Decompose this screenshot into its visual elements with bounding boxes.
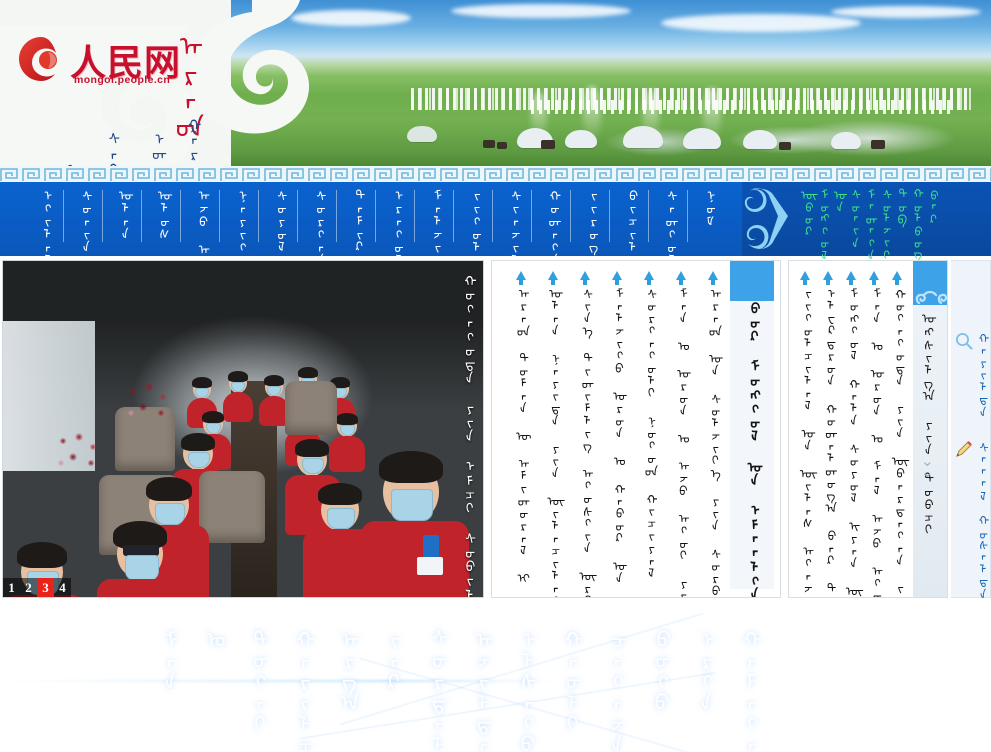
nav-item-label: ᠵᠢᠭᠤᠯᠴᠢᠯᠠᠯ (466, 188, 480, 256)
compose-label: ᠰᠠᠨᠠᠯ ᠬᠦᠰᠡᠯᠲᠡ (974, 441, 987, 599)
nav-item-label: ᠰᠡᠳᠬᠦᠯ (661, 188, 675, 256)
footer-link[interactable]: ᠬᠠᠤᠯᠢ (557, 628, 580, 733)
bullet-icon (846, 271, 856, 280)
news-item[interactable]: ᠰᠢᠨ᠎ᠡ ᠲᠢᠳᠢᠮᠯᠢᠭ ᠠᠭᠤᠰᠬᠢᠨ ᠦᠷᠪᠢᠰᠦᠯ ᠦᠨ ᠰᠡᠷᠭᠡᠶ… (570, 271, 599, 589)
pencil-icon (954, 439, 974, 459)
date-day-mn: ᠡᠳᠦᠷ (148, 131, 163, 166)
logo-domain: mongol.people.cn (74, 74, 170, 86)
footer-link[interactable]: ᠤ (200, 628, 223, 649)
nav-item[interactable]: ᠲᠠᠮᠢᠷ (336, 182, 375, 256)
nav-secondary-list: ᠥᠪᠥᠷ ᠮᠣᠩᠭᠣᠯ ᠤᠨ ᠰᠣᠨᠢᠨ ᠮᠡᠳᠡᠭᠡ ᠰᠦᠯᠵᠢᠶ᠎ᠡ ᠲᠥᠪ… (742, 182, 991, 256)
news-lead-item[interactable]: ᠥᠪᠥᠷ ᠮᠣᠩᠭᠣᠯ ᠤᠨ ᠡᠮᠨᠡᠯᠭᠡ ᠶᠢᠨ ᠬᠠᠪᠰᠤᠷᠤᠯᠭ᠎ᠠ ᠶ… (730, 271, 774, 589)
footer-link[interactable]: ᠬᠠᠮᠠᠭᠠᠯᠠᠭᠳᠠᠨ᠎ᠠ (736, 628, 759, 752)
news-list: ᠬᠥᠬᠡᠬᠣᠲᠠ ᠶᠢᠨ ᠥᠪᠡᠷᠲᠡᠭᠡᠨ ᠵᠠᠰᠠᠬᠤ ᠣᠷᠣᠨ ᠤ ᠲᠥᠪ… (789, 261, 913, 597)
nav-item-label: ᠨᠡᠶᠢᠭᠡᠮ (232, 188, 246, 256)
footer-link[interactable]: ᠠᠵᠢᠯᠲᠠᠨ (468, 628, 491, 752)
people-daily-logo-mark (18, 36, 64, 82)
news-item-title: ᠮᠠᠨ ᠤ ᠣᠷᠣᠨ ᠤ ᠮᠠᠯ ᠠᠵᠤ ᠠᠬᠤᠢ ᠶᠢᠨ ᠬᠥᠭᠵᠢᠯᠲᠡ… (867, 286, 881, 589)
date-month-mn: ᠰᠠᠷ᠎ᠠ (103, 131, 118, 166)
nav-item-label: ᠮᠠᠯᠵᠢᠬᠤ (427, 188, 441, 256)
nav-item[interactable]: ᠰᠤᠶᠤᠯ ᠤᠷᠠᠯᠢᠭ (258, 182, 297, 256)
page-root: 人民网 mongol.people.cn ᠠᠷᠠᠳ ᠤᠨ ᠰᠦᠯᠵᠢᠶ᠎ᠡ 20… (0, 0, 991, 752)
footer-link[interactable]: ᠮᠠᠨ (155, 628, 178, 691)
footer-link[interactable]: ᠪᠥᠬᠦ (646, 628, 669, 712)
bullet-icon (708, 271, 718, 280)
footer-link[interactable]: ᠰᠤᠷᠲᠠᠯᠴᠢᠯᠠᠭ᠎ᠠ (423, 628, 446, 752)
nav-item-label: ᠣᠯᠠᠨ ᠤᠯᠤᠰ (115, 188, 129, 256)
photo-carousel[interactable]: ᠬᠥᠬᠡᠬᠣᠲᠠ ᠶᠢᠨ ᠡᠮᠴᠢ ᠰᠤᠪᠢᠯᠠᠭᠴᠢᠳ ᠤᠨ ᠪᠠᠭ ᠡᠬᠡ … (2, 260, 484, 598)
bullet-icon (580, 271, 590, 280)
footer-link[interactable]: ᠬᠠᠷᠢᠯᠴᠠᠬᠤ (289, 628, 312, 752)
footer-link[interactable]: ᠵᠠᠷ (378, 628, 401, 691)
panel-header-bar (913, 261, 947, 305)
news-item[interactable]: ᠰᠤᠷᠭᠠᠭᠤᠯᠢ ᠨᠤᠭᠤᠳ ᠬᠢᠴᠢᠶᠡᠯ ᠢᠶᠡᠨ ᠰᠡᠷᠭᠦᠭᠡᠬᠦ ᠪ… (634, 271, 663, 589)
bullet-icon (516, 271, 526, 280)
nav-item-label: ᠰᠣᠨᠢᠨ ᠮᠡᠳᠡᠭᠡ (76, 188, 90, 256)
nav-sub-item[interactable]: ᠮᠣᠩᠭᠣᠯ (816, 188, 829, 260)
news-item-title: ᠮᠠᠯᠵᠢᠬᠤ ᠣᠷᠣᠨ ᠤ ᠬᠠᠪᠤᠷ ᠤᠨ ᠮᠠᠯ ᠲᠥᠯᠯᠡᠯᠲᠡ ᠶᠢᠨ… (609, 286, 623, 589)
medical-team-bus-photo (3, 261, 483, 597)
news-item-title: ᠬᠥᠬᠡᠬᠣᠲᠠ ᠶᠢᠨ ᠥᠪᠡᠷᠲᠡᠭᠡᠨ ᠵᠠᠰᠠᠬᠤ ᠣᠷᠣᠨ ᠤ ᠲᠥᠪ… (890, 286, 904, 589)
date-bar: 2020 ᠣᠨ 3 ᠰᠠᠷ᠎ᠠ 23 ᠡᠳᠦᠷ · ᠭᠠᠷᠠᠭ 1 (26, 116, 214, 166)
nav-item[interactable]: ᠵᠢᠷᠤᠭ (570, 182, 609, 256)
nav-item[interactable]: ᠮᠠᠯᠵᠢᠬᠤ (414, 182, 453, 256)
footer-links: ᠮᠠᠨ ᠤ ᠲᠤᠬᠠᠢ ᠬᠠᠷᠢᠯᠴᠠᠬᠤ ᠠᠷᠭ᠎ᠠ ᠵᠠᠷ ᠰᠤᠷᠲᠠᠯᠴᠢ… (155, 628, 758, 738)
news-item-title: ᠰᠢᠨ᠎ᠡ ᠲᠢᠳᠢᠮᠯᠢᠭ ᠠᠭᠤᠰᠬᠢᠨ ᠦᠷᠪᠢᠰᠦᠯ ᠦᠨ ᠰᠡᠷᠭᠡᠶ… (577, 286, 591, 589)
news-item-title: ᠠᠷᠠᠳ ᠲᠦᠮᠡᠨ ᠦ ᠠᠮᠢᠳᠤᠷᠠᠯ ᠢ ᠰᠠᠶᠢᠵᠢᠷᠠᠭᠤᠯᠬᠤ ᠶᠢ… (513, 286, 527, 589)
nav-item[interactable]: ᠰᠡᠳᠬᠦᠯ (648, 182, 687, 256)
nav-item[interactable]: ᠤᠯᠤᠰ ᠲᠥᠷᠦ (141, 182, 180, 256)
nav-item-label: ᠠᠵᠤ ᠠᠬᠤᠢ (193, 188, 207, 256)
site-header: 人民网 mongol.people.cn ᠠᠷᠠᠳ ᠤᠨ ᠰᠦᠯᠵᠢᠶ᠎ᠡ 20… (0, 0, 991, 166)
news-item-title: ᠰᠤᠷᠭᠠᠭᠤᠯᠢ ᠨᠤᠭᠤᠳ ᠬᠢᠴᠢᠶᠡᠯ ᠢᠶᠡᠨ ᠰᠡᠷᠭᠦᠭᠡᠬᠦ ᠪ… (641, 286, 655, 589)
bullet-icon (676, 271, 686, 280)
news-item[interactable]: ᠡᠯᠧᠺᠲ᠋ᠷᠣᠨ ᠬᠤᠳᠠᠯᠳᠤᠭ᠎ᠠ ᠪᠡᠷ ᠲᠠᠷᠢᠶᠠᠴᠢᠨ ᠮᠠᠯᠴᠢ… (818, 271, 838, 589)
site-logo[interactable]: 人民网 mongol.people.cn ᠠᠷᠠᠳ ᠤᠨ ᠰᠦᠯᠵᠢᠶ᠎ᠡ (18, 34, 268, 92)
date-weekday-mn: ᠭᠠᠷᠠᠭ (183, 116, 198, 166)
nav-sub-item[interactable]: ᠥᠪᠥᠷ (800, 188, 813, 236)
news-item-title: ᠠᠷᠠᠳ ᠤᠨ ᠰᠦᠯᠵᠢᠶ᠎ᠡ ᠶᠢᠨ ᠰᠤᠷᠪᠤᠯᠵᠢᠯᠠᠭᠴᠢ ᠶᠢᠨ ᠲ… (705, 286, 719, 589)
bullet-icon (644, 271, 654, 280)
nav-item-label: ᠬᠥᠳᠡᠭᠡ (544, 188, 558, 256)
carousel-dot[interactable]: 2 (20, 578, 37, 597)
nav-item-label: ᠡᠷᠡᠭᠦᠯ (388, 188, 402, 256)
bullet-icon (869, 271, 879, 280)
news-item[interactable]: ᠣᠯᠠᠨ ᠨᠡᠶᠢᠲᠡ ᠶᠢᠨ ᠦᠢᠯᠡᠴᠢᠯᠡᠭᠡᠨ ᠦ ᠴᠢᠨᠠᠷ ᠢ ᠲᠠ… (538, 271, 567, 589)
bullet-icon (823, 271, 833, 280)
nav-item[interactable]: ᠪᠢᠴᠢᠯᠭᠡ (609, 182, 648, 256)
footer-link[interactable]: ᠲᠤᠬᠠᠢ (244, 628, 267, 733)
nav-primary-list: ᠡᠬᠢᠯᠡᠯ ᠰᠣᠨᠢᠨ ᠮᠡᠳᠡᠭᠡ ᠣᠯᠠᠨ ᠤᠯᠤᠰ ᠤᠯᠤᠰ ᠲᠥᠷᠦ … (0, 182, 742, 256)
utility-rail: ᠬᠠᠶᠢᠯᠲᠠ ᠰᠠᠨᠠᠯ ᠬᠦᠰᠡᠯᠲᠡ (951, 260, 991, 598)
bullet-icon (548, 271, 558, 280)
news-item[interactable]: ᠮᠠᠯᠵᠢᠬᠤ ᠣᠷᠣᠨ ᠤ ᠬᠠᠪᠤᠷ ᠤᠨ ᠮᠠᠯ ᠲᠥᠯᠯᠡᠯᠲᠡ ᠶᠢᠨ… (602, 271, 631, 589)
carousel-dot-active[interactable]: 3 (37, 578, 54, 597)
news-item[interactable]: ᠮᠠᠨ ᠤ ᠣᠷᠣᠨ ᠤ ᠠᠵᠤ ᠠᠬᠤᠢ ᠶᠢᠨ ᠰᠡᠷᠭᠦᠯᠲᠡ ᠦᠷᠭᠦᠯ… (666, 271, 695, 589)
main-navigation: ᠡᠬᠢᠯᠡᠯ ᠰᠣᠨᠢᠨ ᠮᠡᠳᠡᠭᠡ ᠣᠯᠠᠨ ᠤᠯᠤᠰ ᠤᠯᠤᠰ ᠲᠥᠷᠦ … (0, 182, 991, 256)
search-button[interactable]: ᠬᠠᠶᠢᠯᠲᠠ (954, 331, 987, 417)
news-item[interactable]: ᠵᠢᠭᠤᠯᠴᠢᠯᠠᠯ ᠤᠨ ᠦᠢᠯᠡᠰ ᠠᠭᠠᠵᠢᠮ ᠢᠶᠠᠷ ᠰᠡᠷᠭᠦᠵᠦ … (795, 271, 815, 589)
main-content: ᠬᠥᠬᠡᠬᠣᠲᠠ ᠶᠢᠨ ᠡᠮᠴᠢ ᠰᠤᠪᠢᠯᠠᠭᠴᠢᠳ ᠤᠨ ᠪᠠᠭ ᠡᠬᠡ … (0, 260, 991, 602)
meander-border (0, 166, 991, 182)
news-item[interactable]: ᠠᠷᠠᠳ ᠲᠦᠮᠡᠨ ᠦ ᠠᠮᠢᠳᠤᠷᠠᠯ ᠢ ᠰᠠᠶᠢᠵᠢᠷᠠᠭᠤᠯᠬᠤ ᠶᠢ… (506, 271, 535, 589)
footer-link[interactable]: ᠴᠠᠭᠠᠵᠠ (602, 628, 625, 752)
news-item[interactable]: ᠬᠥᠬᠡᠬᠣᠲᠠ ᠶᠢᠨ ᠥᠪᠡᠷᠲᠡᠭᠡᠨ ᠵᠠᠰᠠᠬᠤ ᠣᠷᠣᠨ ᠤ ᠲᠥᠪ… (887, 271, 907, 589)
double-chevron-down-icon[interactable]: ⌄⌄ (921, 457, 934, 478)
nav-sub-item[interactable]: ᠰᠣᠨᠢᠨ (847, 188, 860, 248)
carousel-dot[interactable]: 1 (3, 578, 20, 597)
nav-item[interactable]: ᠰᠤᠷᠭᠠᠨ (297, 182, 336, 256)
bullet-icon (612, 271, 622, 280)
news-lead-title: ᠥᠪᠥᠷ ᠮᠣᠩᠭᠣᠯ ᠤᠨ ᠡᠮᠨᠡᠯᠭᠡ ᠶᠢᠨ ᠬᠠᠪᠰᠤᠷᠤᠯᠭ᠎ᠠ ᠶ… (744, 286, 760, 589)
nav-item[interactable]: ᠠᠵᠤ ᠠᠬᠤᠢ (180, 182, 219, 256)
nav-ribbon-arrow (744, 182, 800, 256)
news-panel-digest: ᠬᠥᠬᠡᠬᠣᠲᠠ ᠶᠢᠨ ᠥᠪᠡᠷᠲᠡᠭᠡᠨ ᠵᠠᠰᠠᠬᠤ ᠣᠷᠣᠨ ᠤ ᠲᠥᠪ… (788, 260, 948, 598)
search-icon (954, 331, 974, 351)
news-item-title: ᠮᠣᠩᠭᠣᠯ ᠬᠡᠯᠡ ᠰᠤᠶᠤᠯ ᠢᠶᠠᠨ ᠥᠪᠯᠡᠨ ᠤᠯᠠᠮᠵᠢᠯᠠᠬᠤ … (844, 286, 858, 589)
lead-header-bar (730, 261, 774, 301)
nav-item-label: ᠰᠤᠷᠭᠠᠨ (310, 188, 324, 256)
news-item[interactable]: ᠮᠣᠩᠭᠣᠯ ᠬᠡᠯᠡ ᠰᠤᠶᠤᠯ ᠢᠶᠠᠨ ᠥᠪᠯᠡᠨ ᠤᠯᠠᠮᠵᠢᠯᠠᠬᠤ … (841, 271, 861, 589)
nav-item-label: ᠰᠤᠶᠤᠯ ᠤᠷᠠᠯᠢᠭ (271, 188, 285, 256)
nav-item[interactable]: ᠰᠣᠨᠢᠨ ᠮᠡᠳᠡᠭᠡ (63, 182, 102, 256)
footer-link[interactable]: ᠡᠷᠬᠡ (691, 628, 714, 712)
news-item[interactable]: ᠠᠷᠠᠳ ᠤᠨ ᠰᠦᠯᠵᠢᠶ᠎ᠡ ᠶᠢᠨ ᠰᠤᠷᠪᠤᠯᠵᠢᠯᠠᠭᠴᠢ ᠶᠢᠨ ᠲ… (698, 271, 727, 589)
nav-item-label: ᠵᠢᠷᠤᠭ (583, 188, 597, 256)
news-item[interactable]: ᠮᠠᠨ ᠤ ᠣᠷᠣᠨ ᠤ ᠮᠠᠯ ᠠᠵᠤ ᠠᠬᠤᠢ ᠶᠢᠨ ᠬᠥᠭᠵᠢᠯᠲᠡ… (864, 271, 884, 589)
nav-sub-item[interactable]: ᠪᠠᠷ (925, 188, 938, 224)
search-label: ᠬᠠᠶᠢᠯᠲᠠ (974, 333, 987, 417)
news-list: ᠥᠪᠥᠷ ᠮᠣᠩᠭᠣᠯ ᠤᠨ ᠡᠮᠨᠡᠯᠭᠡ ᠶᠢᠨ ᠬᠠᠪᠰᠤᠷᠤᠯᠭ᠎ᠠ ᠶ… (492, 261, 780, 597)
nav-item[interactable]: ᠡᠬᠢᠯᠡᠯ (24, 182, 63, 256)
footer-link[interactable]: ᠠᠷᠭ᠎ᠠ (334, 628, 357, 712)
nav-item[interactable]: ᠬᠥᠳᠡᠭᠡ (531, 182, 570, 256)
nav-sub-item[interactable]: ᠤᠨ (831, 188, 844, 212)
nav-sub-item[interactable]: ᠲᠥᠪ (894, 188, 907, 224)
carousel-caption: ᠬᠥᠬᠡᠬᠣᠲᠠ ᠶᠢᠨ ᠡᠮᠴᠢ ᠰᠤᠪᠢᠯᠠᠭᠴᠢᠳ ᠤᠨ ᠪᠠᠭ ᠡᠬᠡ … (456, 273, 477, 573)
nav-item-label: ᠪᠢᠴᠢᠯᠭᠡ (622, 188, 636, 256)
bullet-icon (892, 271, 902, 280)
nav-item-label: ᠨᠣᠮ (700, 188, 714, 256)
nav-item-label: ᠲᠠᠮᠢᠷ (349, 188, 363, 256)
nav-item-label: ᠰᠢᠨᠵᠢᠯᠡᠬᠦ (505, 188, 519, 256)
news-item-title: ᠮᠠᠨ ᠤ ᠣᠷᠣᠨ ᠤ ᠠᠵᠤ ᠠᠬᠤᠢ ᠶᠢᠨ ᠰᠡᠷᠭᠦᠯᠲᠡ ᠦᠷᠭᠦᠯ… (673, 286, 687, 589)
news-item-title: ᠡᠯᠧᠺᠲ᠋ᠷᠣᠨ ᠬᠤᠳᠠᠯᠳᠤᠭ᠎ᠠ ᠪᠡᠷ ᠲᠠᠷᠢᠶᠠᠴᠢᠨ ᠮᠠᠯᠴᠢ… (821, 286, 835, 589)
nav-item[interactable]: ᠣᠯᠠᠨ ᠤᠯᠤᠰ (102, 182, 141, 256)
footer-banner: ᠮᠠᠨ ᠤ ᠲᠤᠬᠠᠢ ᠬᠠᠷᠢᠯᠴᠠᠬᠤ ᠠᠷᠭ᠎ᠠ ᠵᠠᠷ ᠰᠤᠷᠲᠠᠯᠴᠢ… (0, 606, 991, 752)
nav-item[interactable]: ᠡᠷᠡᠭᠦᠯ (375, 182, 414, 256)
spiral-ornament-icon (913, 261, 947, 305)
carousel-indicators: 1 2 3 4 (3, 578, 71, 597)
carousel-dot[interactable]: 4 (54, 578, 71, 597)
nav-sub-item[interactable]: ᠮᠡᠳᠡᠭᠡ (862, 188, 875, 260)
panel-title: ᠤᠩᠰᠢᠯᠭ᠎ᠠ ᠶᠢᠨ ᠲᠣᠪᠴᠢ (916, 311, 932, 536)
nav-item-label: ᠤᠯᠤᠰ ᠲᠥᠷᠦ (154, 188, 168, 256)
nav-item[interactable]: ᠵᠢᠭᠤᠯᠴᠢᠯᠠᠯ (453, 182, 492, 256)
footer-link[interactable]: ᠡᠯᠰᠡᠬᠦ (512, 628, 535, 752)
bullet-icon (800, 271, 810, 280)
nav-item[interactable]: ᠰᠢᠨᠵᠢᠯᠡᠬᠦ (492, 182, 531, 256)
news-item-title: ᠵᠢᠭᠤᠯᠴᠢᠯᠠᠯ ᠤᠨ ᠦᠢᠯᠡᠰ ᠠᠭᠠᠵᠢᠮ ᠢᠶᠠᠷ ᠰᠡᠷᠭᠦᠵᠦ … (798, 286, 812, 589)
compose-button[interactable]: ᠰᠠᠨᠠᠯ ᠬᠦᠰᠡᠯᠲᠡ (954, 439, 987, 599)
news-item-title: ᠣᠯᠠᠨ ᠨᠡᠶᠢᠲᠡ ᠶᠢᠨ ᠦᠢᠯᠡᠴᠢᠯᠡᠭᠡᠨ ᠦ ᠴᠢᠨᠠᠷ ᠢ ᠲᠠ… (545, 286, 559, 589)
news-panel-headlines: ᠥᠪᠥᠷ ᠮᠣᠩᠭᠣᠯ ᠤᠨ ᠡᠮᠨᠡᠯᠭᠡ ᠶᠢᠨ ᠬᠠᠪᠰᠤᠷᠤᠯᠭ᠎ᠠ ᠶ… (491, 260, 781, 598)
nav-item-label: ᠡᠬᠢᠯᠡᠯ (37, 188, 51, 256)
nav-item[interactable]: ᠨᠡᠶᠢᠭᠡᠮ (219, 182, 258, 256)
nav-item[interactable]: ᠨᠣᠮ (687, 182, 726, 256)
grassland-banner-photo (231, 0, 991, 166)
panel-header: ᠤᠩᠰᠢᠯᠭ᠎ᠠ ᠶᠢᠨ ᠲᠣᠪᠴᠢ ⌄⌄ (913, 261, 947, 597)
